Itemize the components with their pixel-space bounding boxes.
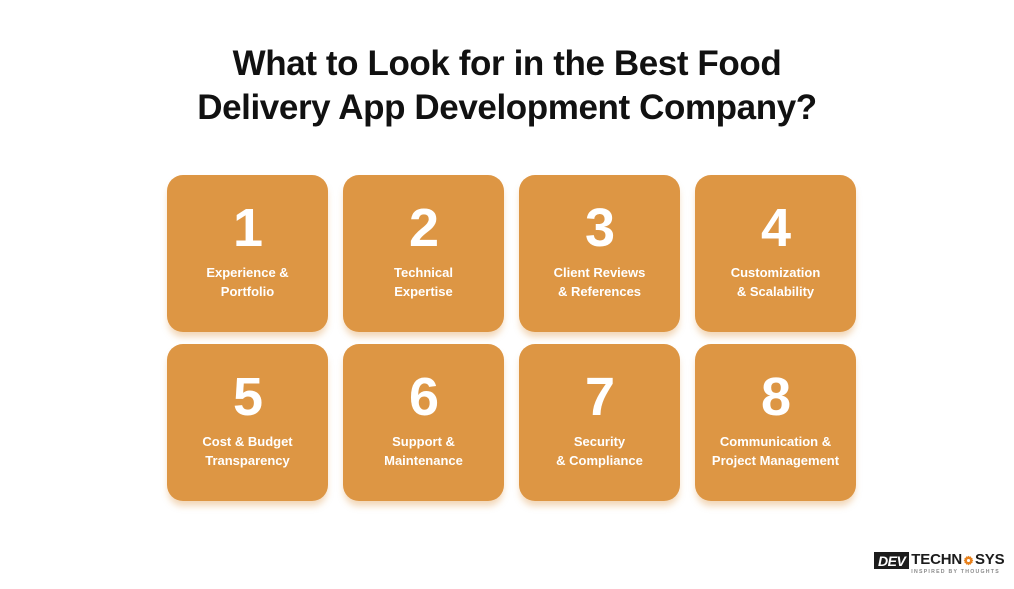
card-number: 1 (233, 197, 262, 259)
criteria-card-8[interactable]: 8 Communication & Project Management (695, 344, 856, 501)
brand-logo[interactable]: DEV TECHN SYS INSPIRED BY THOUGHTS (874, 552, 1004, 576)
card-label: Security & Compliance (507, 432, 692, 470)
card-row-2: 5 Cost & Budget Transparency 6 Support &… (167, 344, 857, 501)
card-label: Client Reviews & References (507, 263, 692, 301)
criteria-card-grid: 1 Experience & Portfolio 2 Technical Exp… (167, 175, 857, 501)
logo-tagline: INSPIRED BY THOUGHTS (911, 569, 1004, 576)
card-label: Support & Maintenance (331, 432, 516, 470)
criteria-card-2[interactable]: 2 Technical Expertise (343, 175, 504, 332)
criteria-card-4[interactable]: 4 Customization & Scalability (695, 175, 856, 332)
card-label: Experience & Portfolio (155, 263, 340, 301)
card-number: 6 (409, 366, 438, 428)
card-number: 5 (233, 366, 262, 428)
page-title: What to Look for in the Best Food Delive… (0, 42, 1014, 130)
page-title-line-2: Delivery App Development Company? (0, 86, 1014, 130)
card-number: 8 (761, 366, 790, 428)
criteria-card-5[interactable]: 5 Cost & Budget Transparency (167, 344, 328, 501)
card-row-1: 1 Experience & Portfolio 2 Technical Exp… (167, 175, 857, 332)
criteria-card-1[interactable]: 1 Experience & Portfolio (167, 175, 328, 332)
card-number: 4 (761, 197, 790, 259)
card-label: Cost & Budget Transparency (155, 432, 340, 470)
card-label: Communication & Project Management (683, 432, 868, 470)
criteria-card-7[interactable]: 7 Security & Compliance (519, 344, 680, 501)
card-number: 7 (585, 366, 614, 428)
criteria-card-3[interactable]: 3 Client Reviews & References (519, 175, 680, 332)
criteria-card-6[interactable]: 6 Support & Maintenance (343, 344, 504, 501)
page-title-line-1: What to Look for in the Best Food (0, 42, 1014, 86)
logo-dev-badge: DEV (874, 552, 909, 569)
card-number: 2 (409, 197, 438, 259)
logo-word-part-2: SYS (975, 552, 1004, 568)
logo-word-row: TECHN SYS (911, 552, 1004, 568)
logo-wordmark: TECHN SYS INSPIRED BY THOUGHTS (911, 552, 1004, 576)
card-label: Technical Expertise (331, 263, 516, 301)
logo-word-part-1: TECHN (911, 552, 962, 568)
gear-icon (963, 555, 974, 566)
card-number: 3 (585, 197, 614, 259)
card-label: Customization & Scalability (683, 263, 868, 301)
